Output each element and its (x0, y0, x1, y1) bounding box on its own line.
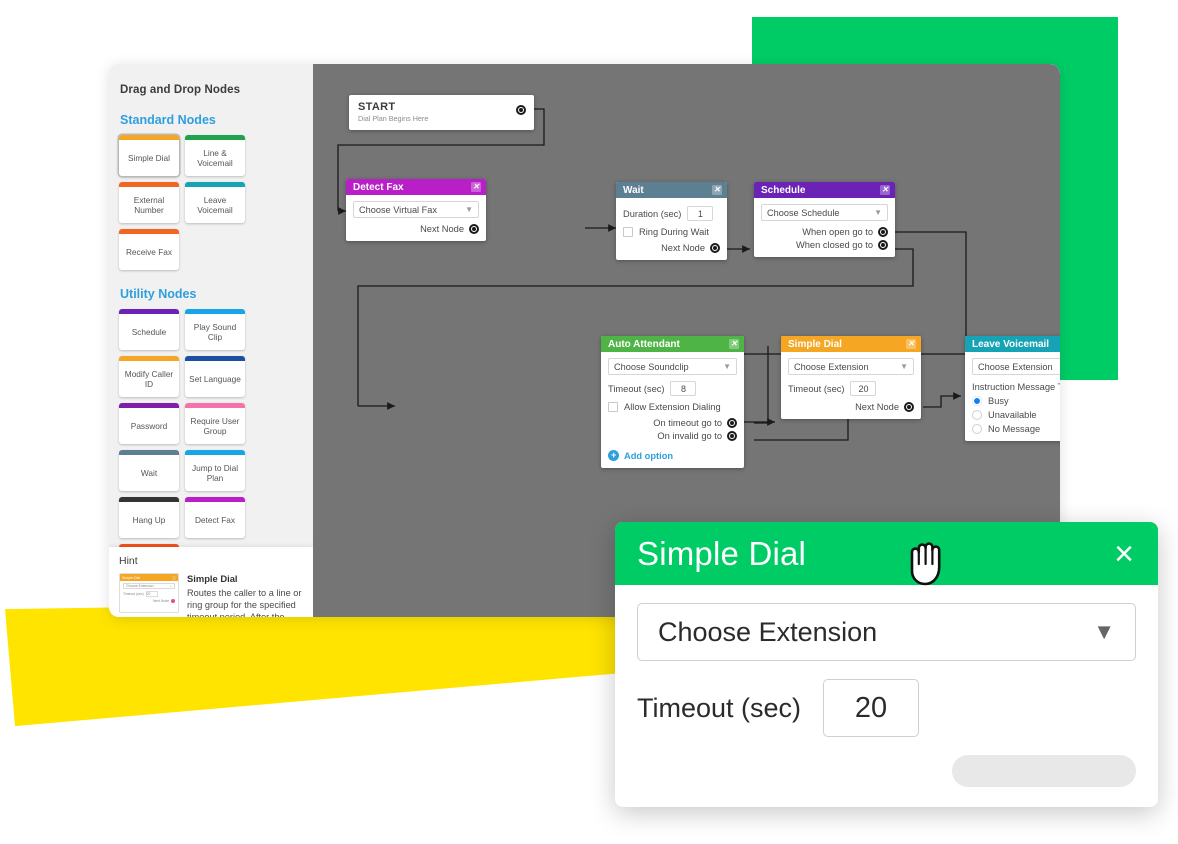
palette-node-jump-to-dial-plan[interactable]: Jump to Dial Plan (185, 450, 245, 491)
node-header-auto-attendant: Auto Attendant ✕ (601, 336, 744, 352)
node-palette-sidebar: Drag and Drop Nodes Standard Nodes Simpl… (109, 64, 313, 617)
radio-label-busy: Busy (988, 396, 1009, 406)
palette-node-hang-up[interactable]: Hang Up (119, 497, 179, 538)
chevron-down-icon: ▼ (723, 362, 731, 371)
allow-extension-dialing-label: Allow Extension Dialing (624, 402, 721, 412)
start-node-title: START (358, 101, 428, 113)
ring-during-wait-row[interactable]: Ring During Wait (623, 227, 720, 237)
hint-node-thumbnail: Simple Dial Choose Extension ⌄ Timeout (… (119, 573, 179, 613)
palette-node-password[interactable]: Password (119, 403, 179, 444)
palette-node-label: Hang Up (119, 502, 179, 538)
allow-extension-dialing-row[interactable]: Allow Extension Dialing (608, 402, 737, 412)
port-row-next-node: Next Node (788, 402, 914, 412)
radio-unavailable[interactable] (972, 410, 982, 420)
select-value: Choose Extension (978, 362, 1053, 372)
decorative-yellow-banner (0, 600, 625, 730)
sidebar-title: Drag and Drop Nodes (109, 64, 313, 96)
select-value: Choose Virtual Fax (359, 205, 437, 215)
thumb-close-icon (172, 576, 176, 580)
timeout-input[interactable]: 8 (670, 381, 696, 396)
chevron-down-icon: ▼ (900, 362, 908, 371)
timeout-label: Timeout (sec) (608, 384, 664, 394)
screenshot-stage: Drag and Drop Nodes Standard Nodes Simpl… (0, 0, 1178, 844)
modal-timeout-input[interactable]: 20 (823, 679, 919, 737)
start-node-subtitle: Dial Plan Begins Here (358, 114, 428, 123)
node-header-leave-voicemail: Leave Voicemail ✕ (965, 336, 1060, 352)
hint-description-block: Simple Dial Routes the caller to a line … (187, 573, 303, 617)
select-value: Choose Soundclip (614, 362, 689, 372)
start-output-port[interactable] (516, 105, 526, 115)
chevron-down-icon: ▼ (465, 205, 473, 214)
start-node[interactable]: START Dial Plan Begins Here (349, 95, 534, 130)
node-title: Schedule (761, 185, 805, 196)
palette-node-label: Detect Fax (185, 502, 245, 538)
port-label: Next Node (661, 243, 705, 253)
palette-node-play-sound-clip[interactable]: Play Sound Clip (185, 309, 245, 350)
output-port-when-open[interactable] (878, 227, 888, 237)
node-detect-fax[interactable]: Detect Fax ✕ Choose Virtual Fax ▼ Next N… (346, 179, 486, 241)
node-header-detect-fax: Detect Fax ✕ (346, 179, 486, 195)
output-port-when-closed[interactable] (878, 240, 888, 250)
grabbing-hand-cursor-icon (903, 534, 949, 586)
node-title: Auto Attendant (608, 339, 680, 350)
modal-title: Simple Dial (637, 535, 806, 573)
palette-node-label: Set Language (185, 361, 245, 397)
close-icon[interactable]: ✕ (906, 339, 916, 349)
duration-field-row: Duration (sec) 1 (623, 206, 720, 221)
port-label: Next Node (420, 224, 464, 234)
palette-node-line-voicemail[interactable]: Line & Voicemail (185, 135, 245, 176)
thumb-port-label: Next Node (153, 599, 169, 603)
chevron-down-icon: ▼ (1093, 619, 1115, 645)
palette-node-set-language[interactable]: Set Language (185, 356, 245, 397)
palette-node-label: External Number (119, 187, 179, 223)
node-header-wait: Wait ✕ (616, 182, 727, 198)
palette-node-leave-voicemail[interactable]: Leave Voicemail (185, 182, 245, 223)
radio-busy[interactable] (972, 396, 982, 406)
port-label: On invalid go to (657, 431, 722, 441)
palette-node-label: Schedule (119, 314, 179, 350)
port-row-when-closed: When closed go to (761, 240, 888, 250)
schedule-select[interactable]: Choose Schedule ▼ (761, 204, 888, 221)
allow-extension-dialing-checkbox[interactable] (608, 402, 618, 412)
close-icon[interactable]: ✕ (471, 182, 481, 192)
radio-label-no-message: No Message (988, 424, 1040, 434)
palette-node-modify-caller-id[interactable]: Modify Caller ID (119, 356, 179, 397)
output-port-on-timeout[interactable] (727, 418, 737, 428)
instruction-message-type-label: Instruction Message Type: (972, 382, 1060, 392)
node-leave-voicemail[interactable]: Leave Voicemail ✕ Choose Extension ▼ Ins… (965, 336, 1060, 441)
timeout-label: Timeout (sec) (788, 384, 844, 394)
select-value: Choose Schedule (767, 208, 840, 218)
output-port-next-node[interactable] (469, 224, 479, 234)
timeout-field-row: Timeout (sec) 20 (788, 381, 914, 396)
virtual-fax-select[interactable]: Choose Virtual Fax ▼ (353, 201, 479, 218)
radio-row-busy[interactable]: Busy (972, 396, 1060, 406)
radio-row-no-message[interactable]: No Message (972, 424, 1060, 434)
chevron-down-icon: ▼ (874, 208, 882, 217)
modal-header: Simple Dial × (615, 522, 1158, 585)
extension-select[interactable]: Choose Extension ▼ (972, 358, 1060, 375)
port-row-on-timeout: On timeout go to (608, 418, 737, 428)
palette-node-simple-dial[interactable]: Simple Dial (119, 135, 179, 176)
modal-timeout-label: Timeout (sec) (637, 693, 801, 724)
node-wait[interactable]: Wait ✕ Duration (sec) 1 Ring During Wait… (616, 182, 727, 260)
node-simple-dial[interactable]: Simple Dial ✕ Choose Extension ▼ Timeout… (781, 336, 921, 419)
thumb-select-label: Choose Extension (126, 584, 154, 588)
palette-node-label: Require User Group (185, 408, 245, 444)
thumb-field-label: Timeout (sec) (123, 592, 144, 596)
node-header-simple-dial: Simple Dial ✕ (781, 336, 921, 352)
radio-label-unavailable: Unavailable (988, 410, 1037, 420)
output-port-next-node[interactable] (904, 402, 914, 412)
hint-node-name: Simple Dial (187, 573, 303, 586)
node-title: Leave Voicemail (972, 339, 1049, 350)
modal-body: Choose Extension ▼ Timeout (sec) 20 (615, 585, 1158, 737)
radio-no-message[interactable] (972, 424, 982, 434)
palette-node-detect-fax[interactable]: Detect Fax (185, 497, 245, 538)
palette-node-label: Simple Dial (119, 140, 179, 176)
port-label: Next Node (855, 402, 899, 412)
hint-title: Hint (119, 555, 303, 567)
add-option-label: Add option (624, 451, 673, 461)
port-row-on-invalid: On invalid go to (608, 431, 737, 441)
port-row-when-open: When open go to (761, 227, 888, 237)
plus-icon: + (608, 450, 619, 461)
modal-extension-select[interactable]: Choose Extension ▼ (637, 603, 1136, 661)
hint-panel: Hint Simple Dial Choose Extension ⌄ Time… (109, 547, 313, 617)
palette-node-label: Modify Caller ID (119, 361, 179, 397)
palette-node-label: Password (119, 408, 179, 444)
thumb-chevron-down-icon: ⌄ (169, 584, 172, 588)
palette-node-external-number[interactable]: External Number (119, 182, 179, 223)
output-port-on-invalid[interactable] (727, 431, 737, 441)
hint-description: Routes the caller to a line or ring grou… (187, 588, 301, 618)
close-icon[interactable]: ✕ (880, 185, 890, 195)
duration-label: Duration (sec) (623, 209, 681, 219)
palette-node-receive-fax[interactable]: Receive Fax (119, 229, 179, 270)
thumb-header-label: Simple Dial (122, 576, 140, 580)
modal-timeout-row: Timeout (sec) 20 (637, 679, 1136, 737)
node-header-schedule: Schedule ✕ (754, 182, 895, 198)
section-heading-utility: Utility Nodes (109, 270, 313, 309)
port-label: On timeout go to (653, 418, 722, 428)
select-value: Choose Extension (794, 362, 869, 372)
ring-during-wait-label: Ring During Wait (639, 227, 709, 237)
section-heading-standard: Standard Nodes (109, 96, 313, 135)
add-option-button[interactable]: + Add option (608, 450, 737, 461)
palette-node-label: Jump to Dial Plan (185, 455, 245, 491)
utility-nodes-grid: SchedulePlay Sound ClipModify Caller IDS… (109, 309, 313, 585)
output-port-next-node[interactable] (710, 243, 720, 253)
simple-dial-modal: Simple Dial × Choose Extension ▼ Timeout… (615, 522, 1158, 807)
palette-node-label: Line & Voicemail (185, 140, 245, 176)
thumb-port-icon (171, 599, 175, 603)
palette-node-schedule[interactable]: Schedule (119, 309, 179, 350)
node-title: Detect Fax (353, 182, 404, 193)
timeout-field-row: Timeout (sec) 8 (608, 381, 737, 396)
standard-nodes-grid: Simple DialLine & VoicemailExternal Numb… (109, 135, 313, 270)
soundclip-select[interactable]: Choose Soundclip ▼ (608, 358, 737, 375)
radio-row-unavailable[interactable]: Unavailable (972, 410, 1060, 420)
duration-input[interactable]: 1 (687, 206, 713, 221)
port-label: When open go to (802, 227, 873, 237)
modal-close-button[interactable]: × (1114, 537, 1134, 571)
node-title: Wait (623, 185, 644, 196)
port-label: When closed go to (796, 240, 873, 250)
node-schedule[interactable]: Schedule ✕ Choose Schedule ▼ When open g… (754, 182, 895, 257)
palette-node-label: Receive Fax (119, 234, 179, 270)
close-icon[interactable]: ✕ (729, 339, 739, 349)
palette-node-require-user-group[interactable]: Require User Group (185, 403, 245, 444)
palette-node-label: Play Sound Clip (185, 314, 245, 350)
palette-node-label: Leave Voicemail (185, 187, 245, 223)
palette-node-wait[interactable]: Wait (119, 450, 179, 491)
node-auto-attendant[interactable]: Auto Attendant ✕ Choose Soundclip ▼ Time… (601, 336, 744, 468)
port-row-next-node: Next Node (353, 224, 479, 234)
modal-action-button-placeholder[interactable] (952, 755, 1136, 787)
node-title: Simple Dial (788, 339, 842, 350)
close-icon[interactable]: ✕ (712, 185, 722, 195)
thumb-field-value: 20 (146, 591, 158, 597)
modal-select-value: Choose Extension (658, 617, 877, 648)
timeout-input[interactable]: 20 (850, 381, 876, 396)
ring-during-wait-checkbox[interactable] (623, 227, 633, 237)
palette-node-label: Wait (119, 455, 179, 491)
extension-select[interactable]: Choose Extension ▼ (788, 358, 914, 375)
port-row-next-node: Next Node (623, 243, 720, 253)
